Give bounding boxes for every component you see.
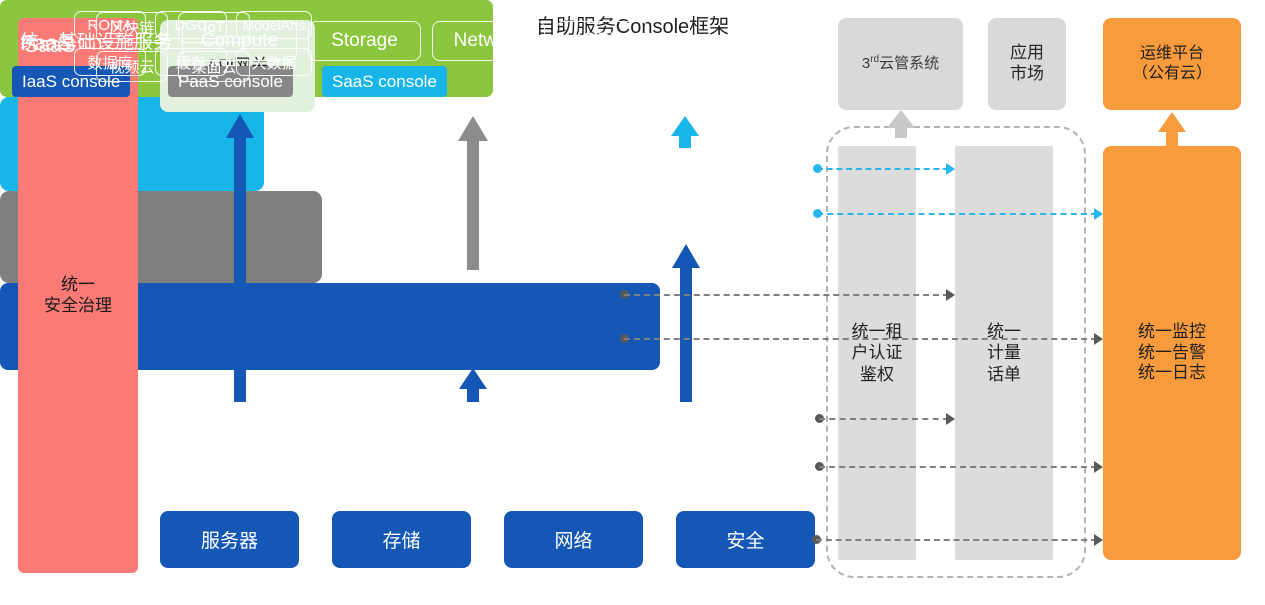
infrastructure-label: 统一基础设施服务 (20, 27, 172, 54)
dashed-line-saas-to-metering (817, 168, 949, 170)
app-market-box: 应用 市场 (988, 18, 1066, 110)
infra-item-compute[interactable]: Compute (182, 21, 297, 61)
saas-console-chip[interactable]: SaaS console (322, 66, 447, 97)
arrowhead-infra-to-auth (946, 413, 955, 425)
arrow-infra-to-saas (669, 244, 703, 402)
dashed-line-saas-to-ops (817, 213, 1097, 215)
hardware-item-security[interactable]: 安全 (676, 511, 815, 568)
arrow-infra-to-api-gateway (224, 114, 256, 402)
hardware-item-storage[interactable]: 存储 (332, 511, 471, 568)
hardware-item-network[interactable]: 网络 (504, 511, 643, 568)
dashed-line-infra-to-ops (819, 466, 1097, 468)
ordinal-superscript: rd (870, 54, 879, 65)
arrowhead-paas-to-ops (1094, 333, 1103, 345)
arrowhead-saas-to-metering (946, 163, 955, 175)
unified-metering-billing-column: 统一 计量 话单 (955, 146, 1053, 560)
unified-monitoring-column: 统一监控 统一告警 统一日志 (1103, 146, 1241, 560)
infra-item-network[interactable]: Network (432, 21, 545, 61)
third-party-cloud-management-box: 3rd云管系统 (838, 18, 963, 110)
dashed-line-paas-to-auth (624, 294, 949, 296)
ops-platform-box: 运维平台 （公有云） (1103, 18, 1241, 110)
arrow-infra-to-paas (456, 368, 490, 402)
architecture-diagram: 统一 安全治理 API网关 自助服务Console框架 IaaS console… (0, 0, 1265, 605)
third-cloud-label: 3rd云管系统 (862, 54, 939, 73)
dashed-line-paas-to-ops (624, 338, 1097, 340)
unified-security-governance-column: 统一 安全治理 (18, 18, 138, 573)
dashed-line-hardware-to-ops (816, 539, 1097, 541)
arrow-paas-to-console (456, 116, 490, 270)
arrow-shared-to-third-cloud (885, 110, 917, 138)
arrowhead-saas-to-ops (1094, 208, 1103, 220)
unified-tenant-auth-column: 统一租 户认证 鉴权 (838, 146, 916, 560)
arrowhead-paas-to-auth (946, 289, 955, 301)
arrowhead-hardware-to-ops (1094, 534, 1103, 546)
dashed-line-infra-to-auth (819, 418, 949, 420)
hardware-item-server[interactable]: 服务器 (160, 511, 299, 568)
arrow-ops-column-to-ops-platform (1156, 112, 1188, 146)
infra-item-storage[interactable]: Storage (308, 21, 421, 61)
infra-item-cce[interactable]: CCE (556, 21, 648, 61)
arrowhead-infra-to-ops (1094, 461, 1103, 473)
arrow-saas-to-console (669, 116, 701, 148)
